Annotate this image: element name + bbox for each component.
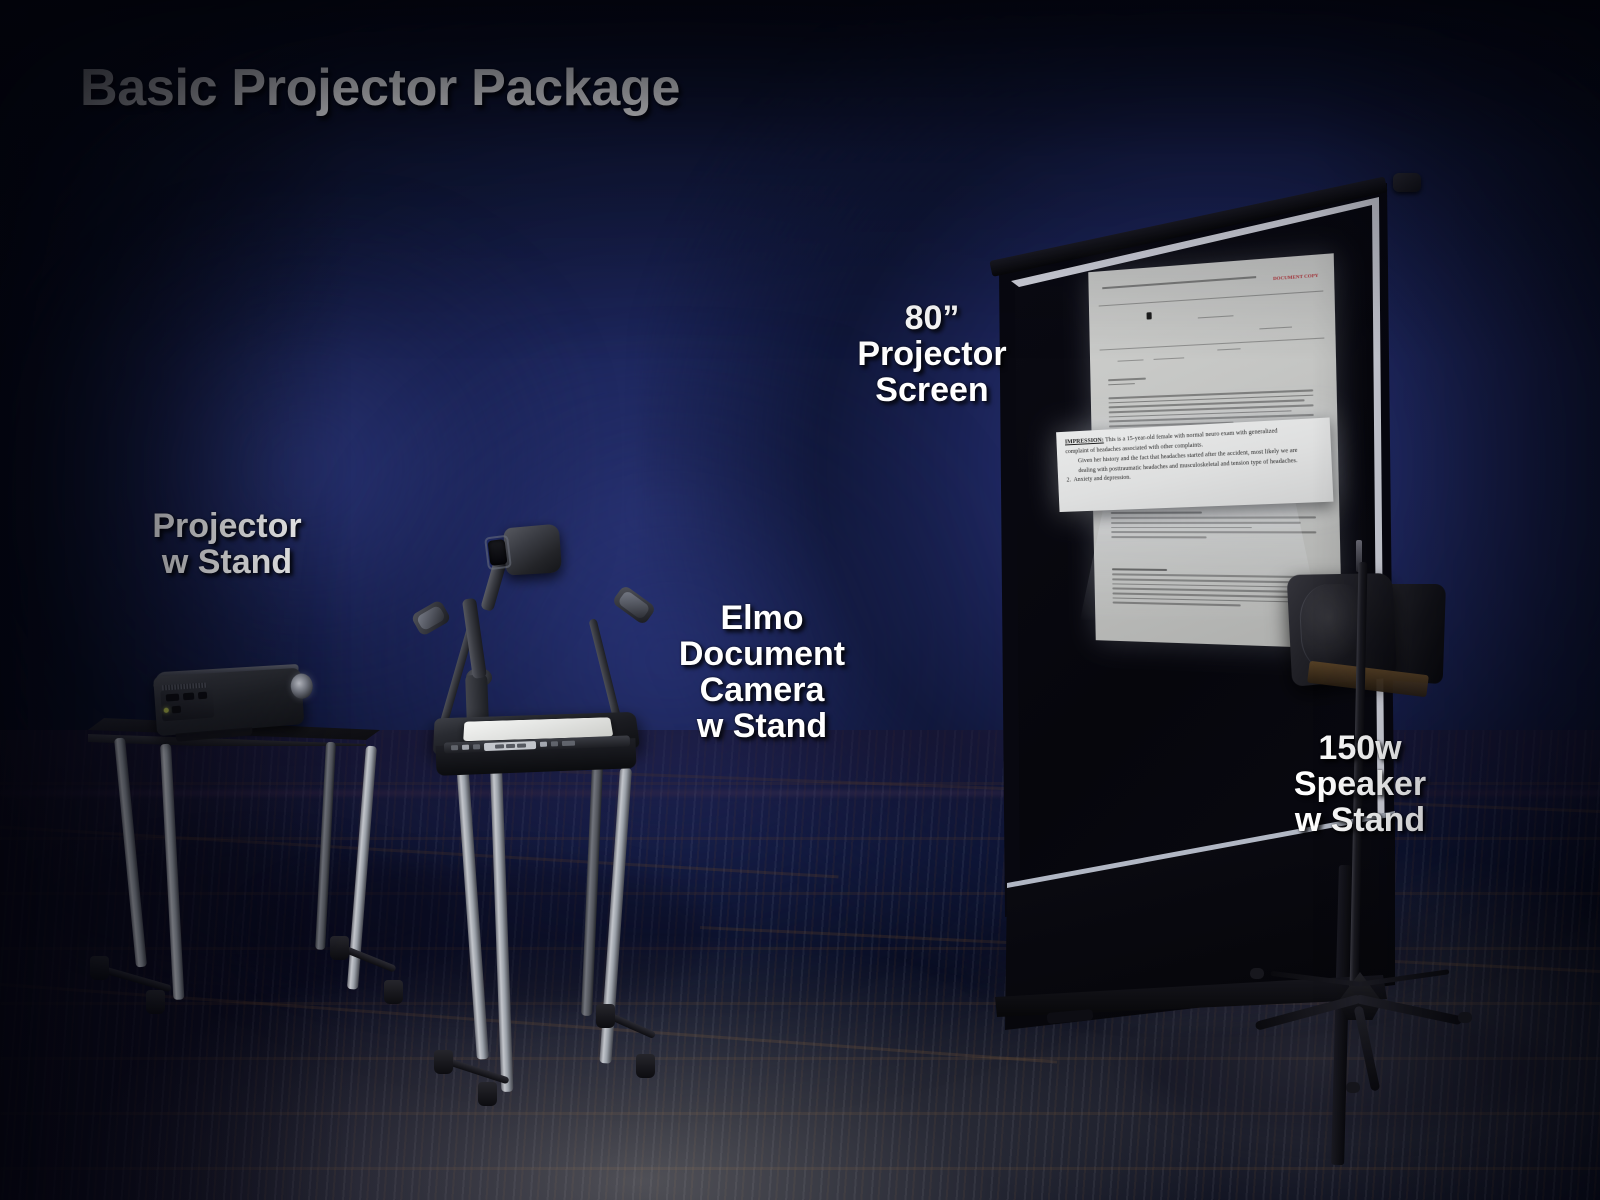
vignette-overlay bbox=[0, 0, 1600, 1200]
slide-canvas: DOCUMENT COPY IMPRESSION: This is a 15-y… bbox=[0, 0, 1600, 1200]
